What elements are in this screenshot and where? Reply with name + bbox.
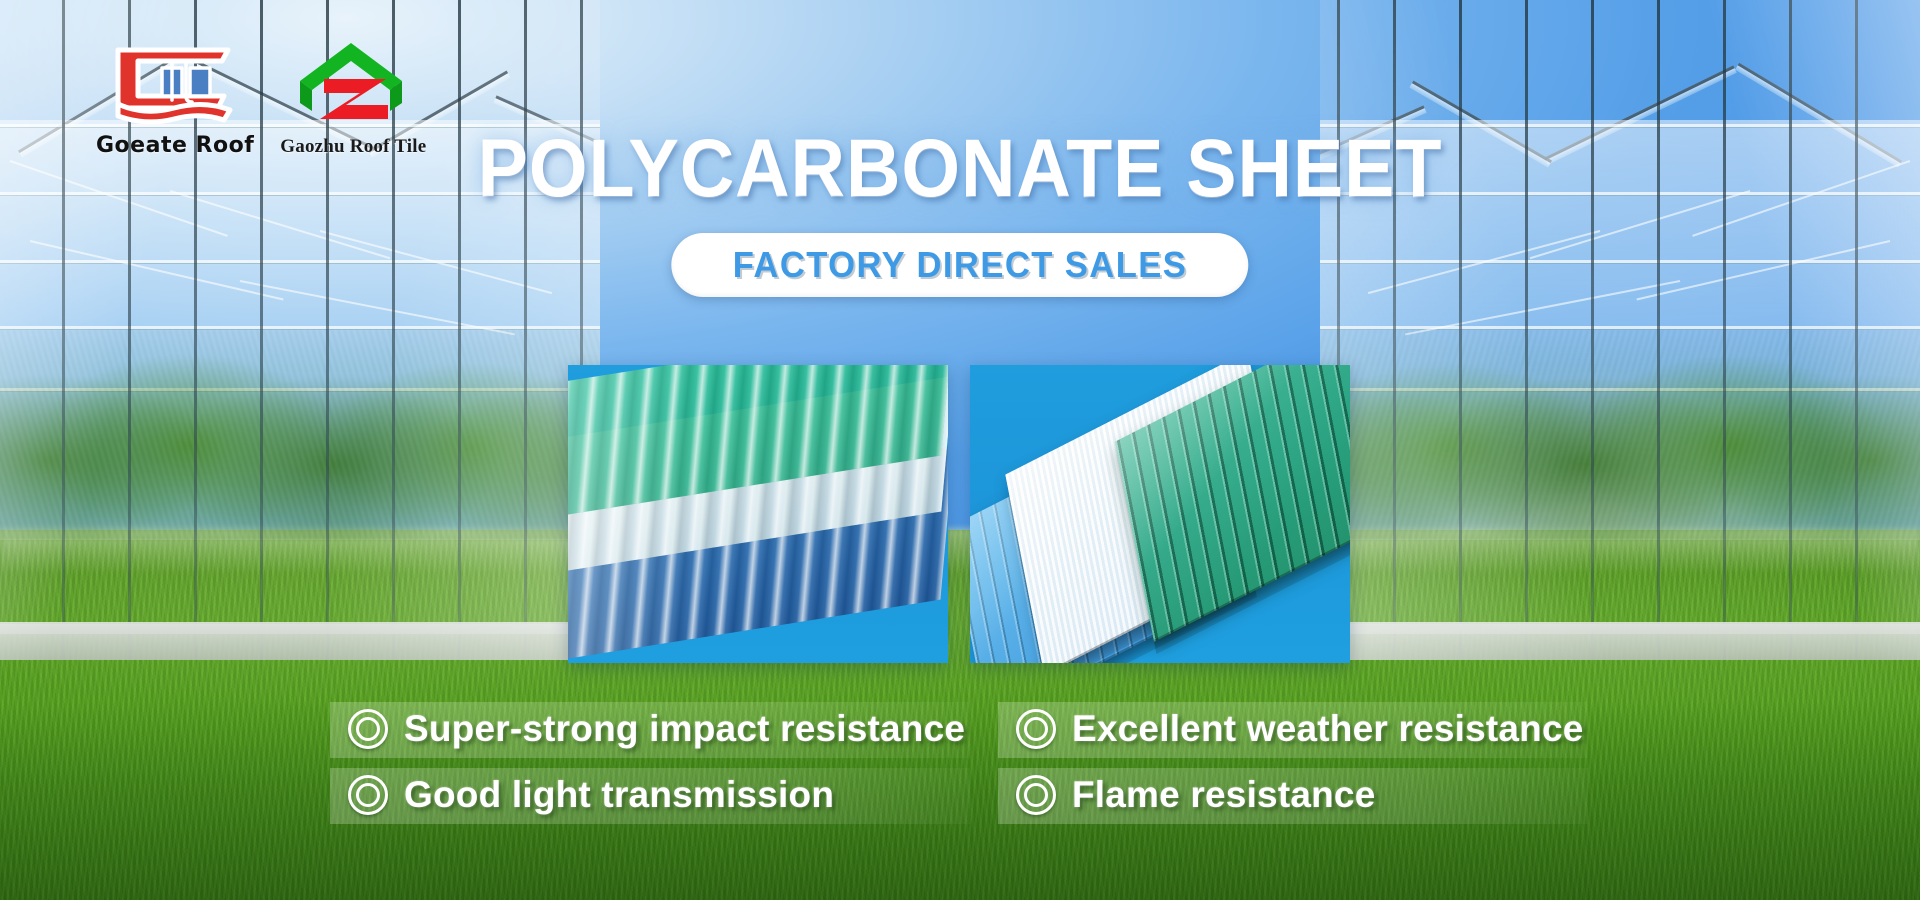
feature-item-light-transmission: Good light transmission	[330, 768, 970, 824]
feature-item-impact-resistance: Super-strong impact resistance	[330, 702, 970, 758]
glass-mullion	[524, 0, 527, 660]
badge-label: FACTORY DIRECT SALES	[733, 244, 1187, 286]
roof-rail	[1320, 326, 1920, 329]
greenhouse-base	[1320, 622, 1920, 660]
feature-label: Flame resistance	[1072, 774, 1375, 816]
feature-label: Excellent weather resistance	[1072, 708, 1584, 750]
corrugated-polycarbonate-sheet-image[interactable]	[568, 365, 948, 663]
double-circle-bullet-icon	[1016, 709, 1056, 749]
roof-truss	[30, 240, 284, 300]
page-title: POLYCARBONATE SHEET	[77, 128, 1843, 210]
double-circle-bullet-icon	[348, 775, 388, 815]
feature-item-weather-resistance: Excellent weather resistance	[998, 702, 1588, 758]
product-images	[568, 365, 1350, 663]
glass-mullion	[62, 0, 65, 660]
roof-truss	[1636, 240, 1890, 300]
glass-mullion	[1657, 0, 1660, 660]
glass-mullion	[1393, 0, 1396, 660]
roof-rail	[0, 326, 600, 329]
feature-label: Good light transmission	[404, 774, 834, 816]
corrugated-sheet-stack	[568, 383, 948, 653]
greenhouse-base	[0, 622, 600, 660]
greenhouse-plants	[1320, 330, 1920, 540]
factory-direct-sales-badge: FACTORY DIRECT SALES	[671, 233, 1248, 297]
glass-mullion	[1459, 0, 1462, 660]
roof-rail	[1320, 260, 1920, 263]
greenhouse-right	[1320, 0, 1920, 660]
promotional-banner: Goeate Roof Gaozhu Roof Tile POLYCARBONA…	[0, 0, 1920, 900]
feature-item-flame-resistance: Flame resistance	[998, 768, 1588, 824]
goeate-roof-logo-icon	[104, 34, 246, 131]
glass-mullion	[1591, 0, 1594, 660]
glass-mullion	[1789, 0, 1792, 660]
hollow-twin-wall-polycarbonate-sheet-image[interactable]	[970, 365, 1350, 663]
roof-rail	[0, 260, 600, 263]
feature-label: Super-strong impact resistance	[404, 708, 965, 750]
glass-mullion	[1855, 0, 1858, 660]
double-circle-bullet-icon	[1016, 775, 1056, 815]
glass-mullion	[458, 0, 461, 660]
feature-list: Super-strong impact resistance Excellent…	[330, 702, 1588, 824]
double-circle-bullet-icon	[348, 709, 388, 749]
gaozhu-roof-tile-logo-icon	[294, 35, 412, 132]
glass-mullion	[1723, 0, 1726, 660]
glass-mullion	[1525, 0, 1528, 660]
greenhouse-plants	[0, 330, 600, 540]
